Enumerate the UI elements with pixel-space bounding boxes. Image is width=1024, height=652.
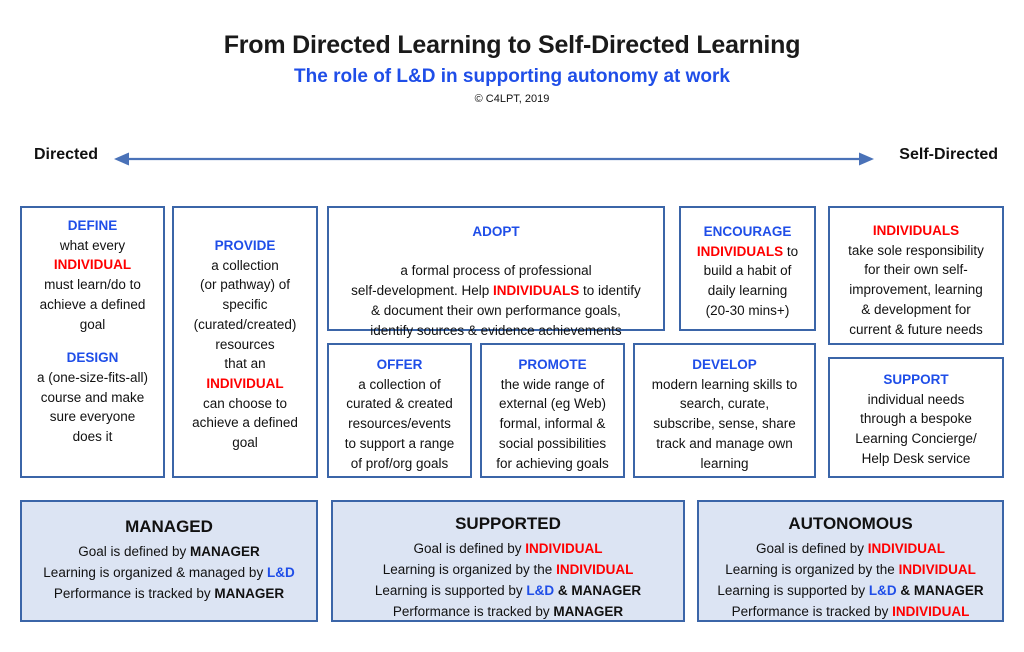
panel-title-supported: SUPPORTED [341, 511, 675, 537]
card-text-encourage-1: to [783, 244, 798, 259]
panel-title-autonomous: AUTONOMOUS [707, 511, 994, 537]
panel-row-strong: INDIVIDUAL [868, 541, 945, 556]
panel-row: Goal is defined by MANAGER [30, 542, 308, 563]
card-develop[interactable]: DEVELOP modern learning skills to search… [633, 343, 816, 478]
panel-title-managed: MANAGED [30, 514, 308, 540]
card-highlight-individual: INDIVIDUAL [180, 374, 310, 394]
panel-row-strong: L&D [267, 565, 295, 580]
copyright-notice: © C4LPT, 2019 [0, 93, 1024, 105]
card-text-promote: the wide range of external (eg Web) form… [488, 375, 617, 474]
panel-row: Learning is organized by the INDIVIDUAL [341, 560, 675, 581]
card-promote[interactable]: PROMOTE the wide range of external (eg W… [480, 343, 625, 478]
card-text-provide-2: can choose to achieve a defined goal [180, 394, 310, 453]
directedness-spectrum: Directed Self-Directed [0, 146, 1024, 176]
panel-row-pre: Performance is tracked by [54, 586, 215, 601]
card-individuals[interactable]: INDIVIDUALS take sole responsibility for… [828, 206, 1004, 345]
card-text-encourage-2: build a habit of daily learning (20-30 m… [687, 261, 808, 320]
panel-row: Learning is organized by the INDIVIDUAL [707, 560, 994, 581]
card-title-design: DESIGN [28, 348, 157, 368]
double-headed-arrow-icon [114, 146, 874, 172]
card-highlight-individuals: INDIVIDUALS [697, 244, 783, 259]
panel-row-strong: INDIVIDUAL [892, 604, 969, 619]
card-highlight-individual: INDIVIDUAL [28, 255, 157, 275]
card-title-offer: OFFER [335, 355, 464, 375]
panel-row: Goal is defined by INDIVIDUAL [341, 539, 675, 560]
panel-row: Performance is tracked by INDIVIDUAL [707, 602, 994, 623]
card-text-support: individual needs through a bespoke Learn… [836, 390, 996, 469]
card-text-offer: a collection of curated & created resour… [335, 375, 464, 474]
card-adopt[interactable]: ADOPT a formal process of professional s… [327, 206, 665, 331]
panel-row-pre: Goal is defined by [413, 541, 525, 556]
page-title: From Directed Learning to Self-Directed … [0, 30, 1024, 61]
card-support[interactable]: SUPPORT individual needs through a bespo… [828, 357, 1004, 478]
panel-row-pre: Learning is organized by the [725, 562, 898, 577]
panel-row-strong: L&D [526, 583, 554, 598]
panel-row-strong: MANAGER [214, 586, 284, 601]
panel-row: Learning is supported by L&D & MANAGER [341, 581, 675, 602]
page-header: From Directed Learning to Self-Directed … [0, 30, 1024, 105]
panel-supported[interactable]: SUPPORTED Goal is defined by INDIVIDUAL … [331, 500, 685, 622]
card-title-encourage: ENCOURAGE [687, 222, 808, 242]
panel-row-pre: Performance is tracked by [732, 604, 893, 619]
panel-row-pre: Goal is defined by [78, 544, 190, 559]
card-text-individuals: take sole responsibility for their own s… [836, 241, 996, 340]
spectrum-label-right: Self-Directed [899, 146, 998, 164]
card-encourage[interactable]: ENCOURAGE INDIVIDUALS to build a habit o… [679, 206, 816, 331]
card-define-design[interactable]: DEFINE what every INDIVIDUAL must learn/… [20, 206, 165, 478]
card-offer[interactable]: OFFER a collection of curated & created … [327, 343, 472, 478]
panel-managed[interactable]: MANAGED Goal is defined by MANAGER Learn… [20, 500, 318, 622]
panel-row-strong: INDIVIDUAL [525, 541, 602, 556]
card-text-define-2: must learn/do to achieve a defined goal [28, 275, 157, 334]
card-provide[interactable]: PROVIDE a collection (or pathway) of spe… [172, 206, 318, 478]
page-subtitle: The role of L&D in supporting autonomy a… [0, 65, 1024, 89]
panel-row-pre: Goal is defined by [756, 541, 868, 556]
panel-row-post: & MANAGER [897, 583, 984, 598]
panel-row-pre: Performance is tracked by [393, 604, 554, 619]
card-title-support: SUPPORT [836, 370, 996, 390]
card-spacer [28, 334, 157, 348]
card-title-develop: DEVELOP [641, 355, 808, 375]
panel-row-strong: L&D [869, 583, 897, 598]
panel-row-strong: INDIVIDUAL [556, 562, 633, 577]
card-highlight-individuals: INDIVIDUALS [836, 221, 996, 241]
panel-row: Performance is tracked by MANAGER [30, 584, 308, 605]
card-title-promote: PROMOTE [488, 355, 617, 375]
panel-row-strong: MANAGER [553, 604, 623, 619]
panel-row-strong: INDIVIDUAL [899, 562, 976, 577]
panel-row-post: & MANAGER [554, 583, 641, 598]
panel-row: Learning is supported by L&D & MANAGER [707, 581, 994, 602]
panel-row-pre: Learning is supported by [375, 583, 527, 598]
card-text-provide-1: a collection (or pathway) of specific (c… [180, 256, 310, 374]
panel-row-pre: Learning is organized & managed by [43, 565, 267, 580]
panel-row-pre: Learning is organized by the [383, 562, 556, 577]
card-title-adopt: ADOPT [335, 222, 657, 242]
card-text-develop: modern learning skills to search, curate… [641, 375, 808, 474]
card-title-provide: PROVIDE [180, 236, 310, 256]
card-title-define: DEFINE [28, 216, 157, 236]
panel-row: Learning is organized & managed by L&D [30, 563, 308, 584]
panel-row-strong: MANAGER [190, 544, 260, 559]
panel-autonomous[interactable]: AUTONOMOUS Goal is defined by INDIVIDUAL… [697, 500, 1004, 622]
card-text-adopt: a formal process of professional self-de… [351, 263, 641, 337]
card-text-encourage-line: INDIVIDUALS to [687, 242, 808, 262]
panel-row: Performance is tracked by MANAGER [341, 602, 675, 623]
panel-row-pre: Learning is supported by [717, 583, 869, 598]
card-text-define-1: what every [28, 236, 157, 256]
card-text-design-1: a (one-size-fits-all) course and make su… [28, 368, 157, 447]
spectrum-label-left: Directed [34, 146, 98, 164]
panel-row: Goal is defined by INDIVIDUAL [707, 539, 994, 560]
card-highlight-individuals: INDIVIDUALS [493, 283, 579, 298]
